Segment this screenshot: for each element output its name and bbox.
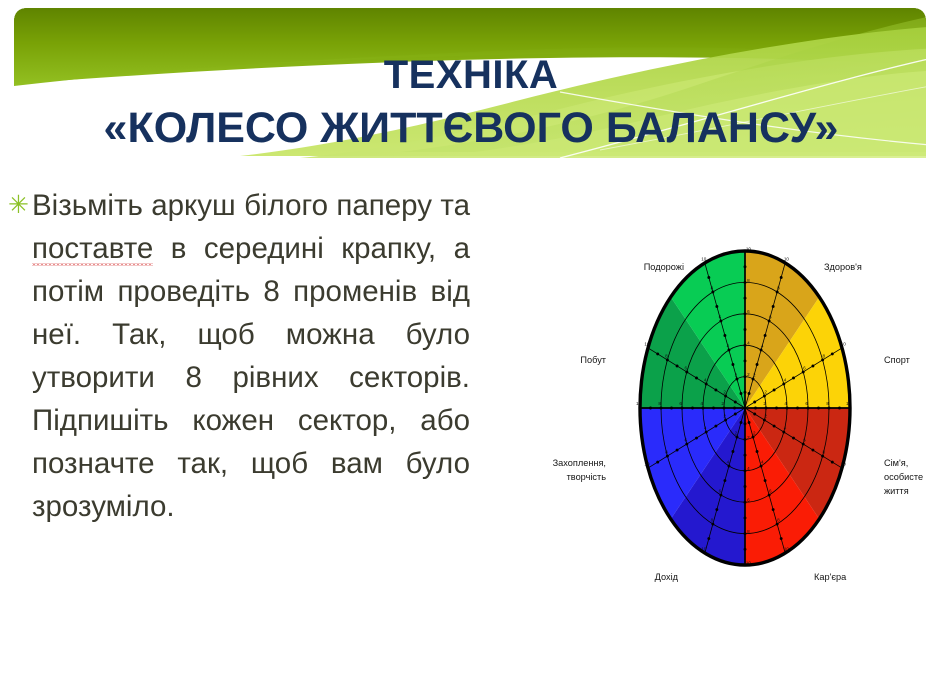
body-text-block: ✳ Візьміть аркуш білого паперу та постав… xyxy=(8,184,470,528)
wheel-tick-dot xyxy=(763,395,766,398)
wheel-tick-dot xyxy=(723,479,726,482)
wheel-tick-label: 8 xyxy=(826,401,829,406)
wheel-tick-label: 2 xyxy=(753,372,756,377)
wheel-tick-dot xyxy=(727,349,730,352)
wheel-tick-dot xyxy=(727,465,730,468)
wheel-tick-dot xyxy=(711,523,714,526)
wheel-tick-dot xyxy=(734,413,737,416)
body-text-part2: в середині крапку, а потім проведіть 8 п… xyxy=(32,232,470,523)
bullet-asterisk-icon: ✳ xyxy=(8,184,32,227)
wheel-tick-dot xyxy=(764,334,767,337)
wheel-tick-label: 4 xyxy=(727,459,730,464)
wheel-tick-dot xyxy=(740,392,743,395)
wheel-tick-dot xyxy=(780,276,783,279)
wheel-tick-dot xyxy=(773,389,776,392)
wheel-tick-dot xyxy=(691,407,694,410)
wheel-tick-dot xyxy=(702,407,705,410)
wheel-tick-dot xyxy=(773,425,776,428)
wheel-tick-dot xyxy=(660,407,663,410)
wheel-tick-dot xyxy=(753,413,756,416)
wheel-tick-dot xyxy=(685,443,688,446)
wheel-tick-dot xyxy=(772,508,775,511)
wheel-tick-label: 6 xyxy=(719,314,722,319)
wheel-tick-label: 2 xyxy=(753,430,756,435)
wheel-tick-label: 6 xyxy=(685,437,688,442)
wheel-tick-dot xyxy=(796,407,799,410)
wheel-tick-dot xyxy=(705,431,708,434)
wheel-tick-dot xyxy=(776,291,779,294)
wheel-tick-dot xyxy=(666,358,669,361)
wheel-tick-dot xyxy=(695,437,698,440)
wheel-tick-dot xyxy=(775,407,778,410)
page-title-line2: «КОЛЕСО ЖИТТЄВОГО БАЛАНСУ» xyxy=(0,102,942,154)
wheel-tick-dot xyxy=(811,364,814,367)
wheel-tick-label: 2 xyxy=(764,413,767,418)
wheel-tick-label: 2 xyxy=(763,401,766,406)
wheel-tick-dot xyxy=(768,320,771,323)
wheel-tick-dot xyxy=(695,377,698,380)
wheel-tick-label: 8 xyxy=(711,517,714,522)
wheel-label-7: Побут xyxy=(580,355,606,365)
wheel-tick-dot xyxy=(831,461,834,464)
body-text-part1: Візьміть аркуш білого паперу та xyxy=(32,189,470,222)
wheel-tick-label: 2 xyxy=(735,372,738,377)
wheel-tick-dot xyxy=(732,450,735,453)
wheel-tick-dot xyxy=(744,359,747,362)
wheel-tick-label: 6 xyxy=(747,309,750,314)
wheel-tick-label: 2 xyxy=(747,372,750,377)
wheel-tick-dot xyxy=(736,378,739,381)
wheel-tick-label: 4 xyxy=(761,459,764,464)
wheel-tick-dot xyxy=(786,407,789,410)
wheel-label-8: Подорожі xyxy=(644,262,684,272)
wheel-tick-dot xyxy=(782,383,785,386)
life-balance-wheel-figure: 2468102468102468102468102468102468102468… xyxy=(496,228,942,600)
wheel-tick-label: 2 xyxy=(747,435,750,440)
wheel-tick-label: 6 xyxy=(803,365,806,370)
wheel-tick-label: 8 xyxy=(665,353,668,358)
wheel-tick-label: 8 xyxy=(711,285,714,290)
wheel-tick-dot xyxy=(670,407,673,410)
wheel-tick-dot xyxy=(732,363,735,366)
wheel-tick-dot xyxy=(649,407,652,410)
wheel-label-4: Кар'єра xyxy=(814,572,847,582)
wheel-tick-label: 8 xyxy=(665,449,668,454)
wheel-label-5: Дохід xyxy=(655,572,679,582)
wheel-tick-dot xyxy=(714,389,717,392)
wheel-tick-dot xyxy=(736,436,739,439)
wheel-tick-dot xyxy=(765,407,768,410)
body-paragraph: Візьміть аркуш білого паперу та поставте… xyxy=(32,184,470,528)
wheel-tick-label: 4 xyxy=(727,343,730,348)
wheel-label-3: Сім'я,особистежиття xyxy=(884,458,923,496)
wheel-tick-dot xyxy=(782,431,785,434)
wheel-tick-label: 6 xyxy=(747,498,750,503)
wheel-tick-dot xyxy=(744,454,747,457)
wheel-tick-dot xyxy=(802,371,805,374)
wheel-tick-dot xyxy=(714,425,717,428)
wheel-tick-dot xyxy=(744,548,747,551)
wheel-label-2: Спорт xyxy=(884,355,911,365)
wheel-tick-dot xyxy=(744,438,747,441)
wheel-tick-dot xyxy=(817,407,820,410)
wheel-tick-dot xyxy=(828,407,831,410)
page-title-line1: ТЕХНІКА xyxy=(0,52,942,98)
wheel-tick-dot xyxy=(763,419,766,422)
wheel-tick-label: 2 xyxy=(723,389,726,394)
wheel-tick-label: 2 xyxy=(723,413,726,418)
wheel-tick-dot xyxy=(756,450,759,453)
wheel-tick-dot xyxy=(772,305,775,308)
wheel-tick-label: 4 xyxy=(704,377,707,382)
wheel-tick-label: 2 xyxy=(764,389,767,394)
wheel-tick-label: 6 xyxy=(769,314,772,319)
wheel-tick-dot xyxy=(707,276,710,279)
wheel-tick-dot xyxy=(705,383,708,386)
wheel-tick-label: 8 xyxy=(658,401,661,406)
wheel-tick-dot xyxy=(753,401,756,404)
wheel-tick-dot xyxy=(712,407,715,410)
wheel-tick-dot xyxy=(811,449,814,452)
wheel-tick-dot xyxy=(744,532,747,535)
wheel-tick-dot xyxy=(723,334,726,337)
wheel-tick-label: 6 xyxy=(805,401,808,406)
wheel-tick-dot xyxy=(711,291,714,294)
wheel-tick-label: 4 xyxy=(747,466,750,471)
wheel-tick-dot xyxy=(821,358,824,361)
wheel-tick-dot xyxy=(656,461,659,464)
wheel-tick-dot xyxy=(768,494,771,497)
wheel-tick-label: 4 xyxy=(784,377,787,382)
wheel-tick-dot xyxy=(744,375,747,378)
wheel-label-6: Захоплення,творчість xyxy=(553,458,607,482)
wheel-tick-dot xyxy=(744,469,747,472)
wheel-tick-dot xyxy=(764,479,767,482)
wheel-tick-label: 4 xyxy=(761,343,764,348)
wheel-tick-dot xyxy=(744,391,747,394)
wheel-tick-label: 4 xyxy=(704,425,707,430)
wheel-tick-label: 6 xyxy=(685,365,688,370)
wheel-tick-label: 2 xyxy=(735,430,738,435)
wheel-tick-label: 10 xyxy=(784,256,790,261)
wheel-tick-dot xyxy=(719,320,722,323)
wheel-tick-dot xyxy=(740,421,743,424)
wheel-tick-dot xyxy=(744,516,747,519)
wheel-tick-dot xyxy=(752,436,755,439)
wheel-tick-dot xyxy=(734,401,737,404)
wheel-tick-dot xyxy=(744,422,747,425)
wheel-tick-dot xyxy=(744,344,747,347)
wheel-tick-dot xyxy=(744,501,747,504)
wheel-tick-dot xyxy=(724,419,727,422)
wheel-tick-dot xyxy=(792,377,795,380)
wheel-tick-dot xyxy=(744,312,747,315)
spellcheck-word: поставте xyxy=(32,232,153,266)
wheel-tick-dot xyxy=(744,297,747,300)
wheel-tick-label: 8 xyxy=(777,517,780,522)
wheel-tick-dot xyxy=(685,371,688,374)
wheel-tick-dot xyxy=(821,455,824,458)
wheel-tick-dot xyxy=(802,443,805,446)
wheel-tick-dot xyxy=(656,352,659,355)
wheel-tick-dot xyxy=(676,449,679,452)
wheel-tick-label: 6 xyxy=(679,401,682,406)
wheel-tick-dot xyxy=(715,305,718,308)
wheel-tick-label: 6 xyxy=(719,488,722,493)
wheel-tick-dot xyxy=(748,392,751,395)
wheel-tick-dot xyxy=(780,537,783,540)
wheel-tick-dot xyxy=(666,455,669,458)
wheel-tick-dot xyxy=(807,407,810,410)
wheel-tick-dot xyxy=(744,265,747,268)
wheel-tick-dot xyxy=(723,407,726,410)
wheel-tick-dot xyxy=(754,407,757,410)
wheel-tick-label: 6 xyxy=(803,437,806,442)
wheel-tick-dot xyxy=(792,437,795,440)
wheel-tick-dot xyxy=(715,508,718,511)
wheel-tick-label: 4 xyxy=(747,341,750,346)
wheel-tick-dot xyxy=(831,352,834,355)
wheel-tick-label: 8 xyxy=(747,529,750,534)
wheel-tick-dot xyxy=(719,494,722,497)
wheel-tick-label: 8 xyxy=(777,285,780,290)
wheel-tick-label: 2 xyxy=(721,401,724,406)
wheel-tick-label: 8 xyxy=(823,353,826,358)
wheel-tick-label: 8 xyxy=(747,278,750,283)
wheel-tick-label: 4 xyxy=(784,401,787,406)
wheel-tick-dot xyxy=(744,485,747,488)
wheel-tick-dot xyxy=(707,537,710,540)
wheel-tick-dot xyxy=(744,281,747,284)
wheel-tick-dot xyxy=(752,378,755,381)
wheel-tick-dot xyxy=(724,395,727,398)
wheel-label-1: Здоров'я xyxy=(824,262,862,272)
wheel-tick-dot xyxy=(760,465,763,468)
wheel-tick-dot xyxy=(681,407,684,410)
wheel-tick-dot xyxy=(733,407,736,410)
wheel-tick-dot xyxy=(776,523,779,526)
wheel-tick-label: 4 xyxy=(700,401,703,406)
slide-title: ТЕХНІКА «КОЛЕСО ЖИТТЄВОГО БАЛАНСУ» xyxy=(0,52,942,154)
wheel-tick-label: 4 xyxy=(784,425,787,430)
wheel-tick-label: 8 xyxy=(823,449,826,454)
wheel-tick-dot xyxy=(748,421,751,424)
wheel-tick-dot xyxy=(676,364,679,367)
wheel-tick-dot xyxy=(838,407,841,410)
wheel-tick-dot xyxy=(744,328,747,331)
wheel-tick-label: 6 xyxy=(769,488,772,493)
wheel-tick-dot xyxy=(756,363,759,366)
wheel-tick-dot xyxy=(760,349,763,352)
